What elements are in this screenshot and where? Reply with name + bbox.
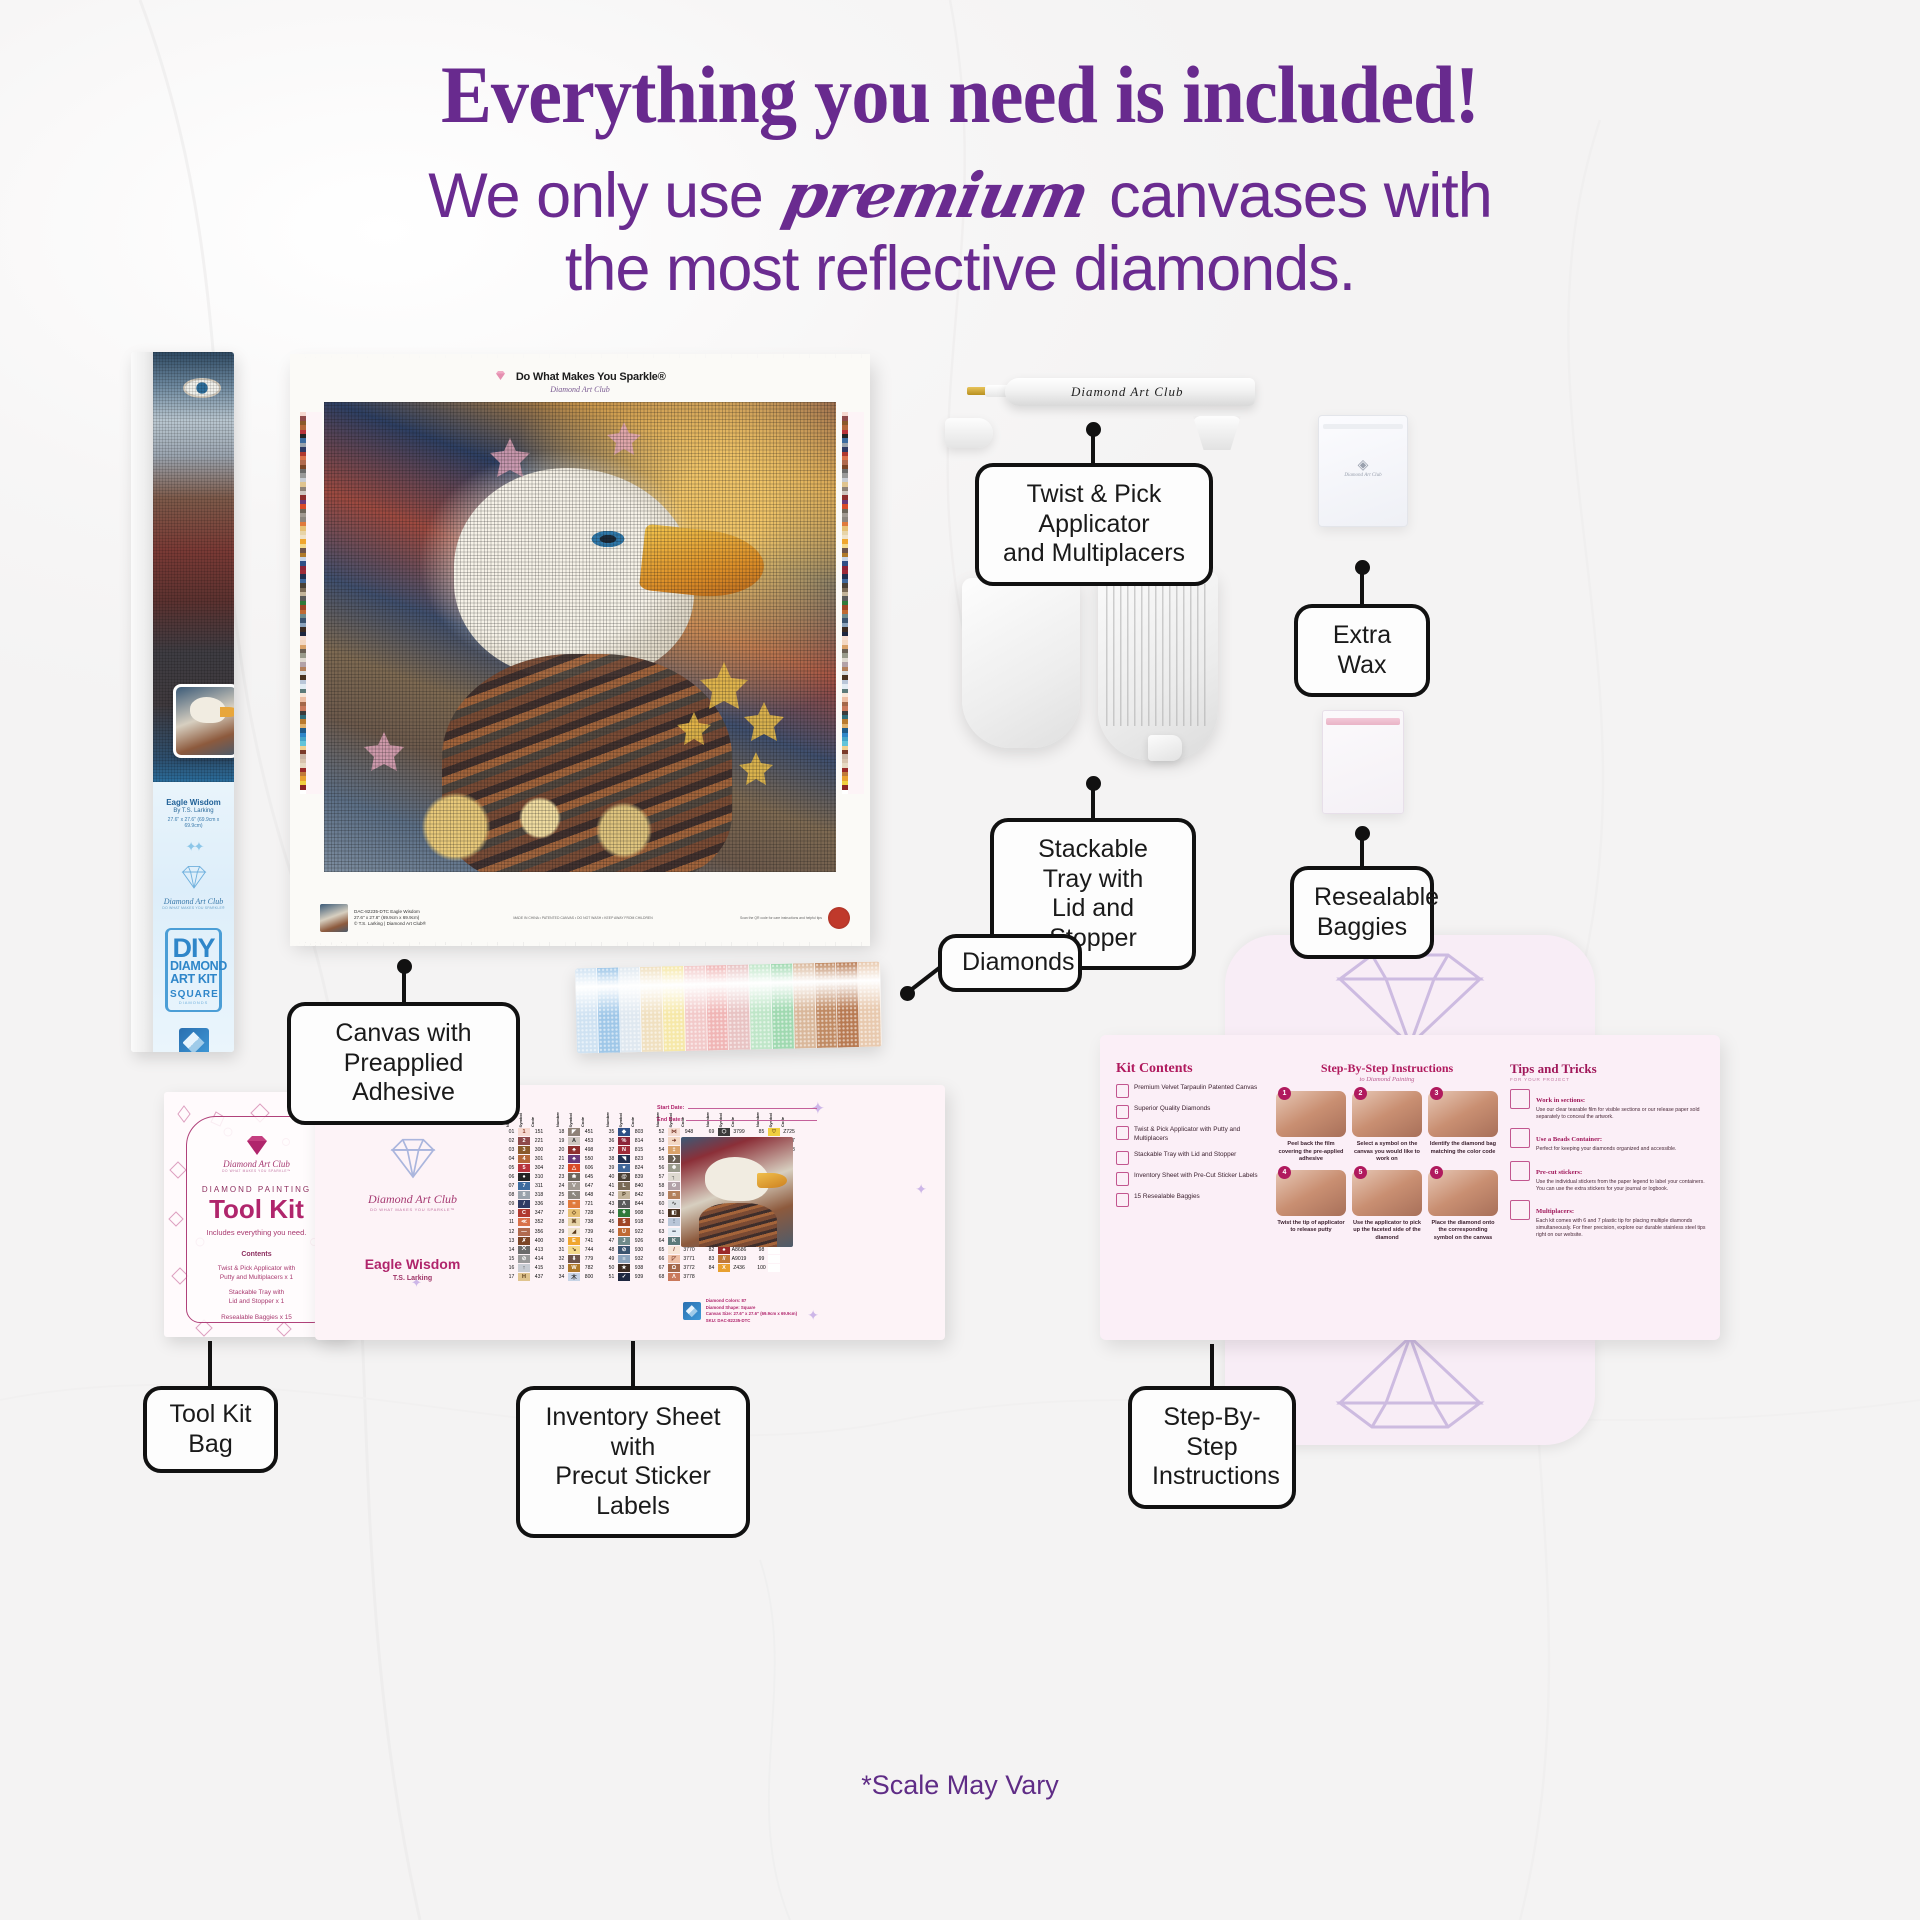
leader-dot-canvas [397,959,412,974]
symbol-row: 34木800 [555,1273,598,1282]
canvas-meta: DAC-82235-DTC Eagle Wisdom 27.6" x 27.6"… [354,909,426,928]
symbol-row: 99 [755,1254,798,1263]
steps-grid: 1Peel back the film covering the pre-app… [1276,1091,1498,1242]
symbol-row: 25↖648 [555,1191,598,1200]
callout-extra-wax[interactable]: Extra Wax [1294,604,1430,697]
tip-2-heading: Use a Beads Container: [1536,1136,1602,1143]
symbol-row: 46U922 [605,1227,648,1236]
steps-title: Step-By-Step Instructions [1276,1061,1498,1076]
canvas-thumbnail [320,904,348,932]
symbol-row: 84XZ436 [705,1263,748,1272]
inventory-brand-sub: DO WHAT MAKES YOU SPARKLE™ [335,1207,490,1212]
tips-panel: Tips and Tricks FOR YOUR PROJECT Work in… [1510,1061,1708,1330]
symbol-row: 18◤451 [555,1127,598,1136]
baggie-zip [1326,718,1400,725]
symbol-row: 09/336 [505,1200,548,1209]
toolkit-contents-4: Lid and Stopper x 1 [187,1298,326,1307]
step-number: 5 [1354,1166,1367,1179]
callout-twist-pick-applicator[interactable]: Twist & Pick Applicator and Multiplacers [975,463,1213,586]
kit-contents-panel: Kit Contents Premium Velvet Tarpaulin Pa… [1116,1061,1266,1330]
toolkit-subtitle: Includes everything you need. [187,1228,326,1237]
step-caption: Place the diamond onto the corresponding… [1428,1220,1498,1243]
symbol-column-header: NumberSymbolCode [605,1103,648,1127]
symbol-row: 044301 [505,1154,548,1163]
toolkit-brand-sub: DO WHAT MAKES YOU SPARKLE™ [187,1169,326,1173]
symbol-row: 19A453 [555,1136,598,1145]
canvas-center-note: MADE IN CHINA • PATENTED CANVAS • DO NOT… [426,916,740,920]
symbol-row: 12—356 [505,1227,548,1236]
pen-cap [945,418,993,448]
inventory-artwork-preview [681,1137,793,1247]
diamond-baggie [662,966,686,1051]
diamond-baggie [728,965,752,1050]
box-title: Eagle Wisdom [159,798,228,808]
pen-brand: Diamond Art Club [1071,384,1184,400]
leader-dot-baggies [1355,826,1370,841]
step-number: 1 [1278,1087,1291,1100]
diamond-outline-icon-bottom [1300,1335,1520,1433]
page-subtitle: We only use premium canvases with the mo… [0,160,1920,305]
extra-wax-bag: ◈ Diamond Art Club [1318,415,1408,527]
stickers-icon [1510,1161,1530,1181]
toolkit-contents-label: Contents [187,1251,326,1258]
pen-gold-tip [967,387,987,395]
leader-dot-diamonds [900,986,915,1001]
diamond-icon [177,863,211,890]
symbol-row: 50★938 [605,1263,648,1272]
canvas-right-note: Scan the QR code for care instructions a… [740,916,822,920]
diamond-baggie [706,965,730,1050]
baggies-icon [1116,1193,1129,1207]
symbol-row: 10C347 [505,1209,548,1218]
diamond-baggie [597,967,621,1052]
diamond-baggie [749,964,773,1049]
leader-dot-wax [1355,560,1370,575]
callout-inventory-sheet[interactable]: Inventory Sheet with Precut Sticker Labe… [516,1386,750,1538]
symbol-row: 49≡932 [605,1254,648,1263]
symbol-row: 51✓939 [605,1273,648,1282]
kit-content-3: Twist & Pick Applicator with Putty and M… [1134,1126,1266,1144]
inventory-sku-block: Diamond Colors: 87 Diamond Shape: Square… [683,1298,797,1324]
diamond-icon-inventory [385,1135,441,1180]
kit-content-6: 15 Resealable Baggies [1134,1193,1200,1207]
symbol-row: 35◆803 [605,1127,648,1136]
toolkit-contents-1: Twist & Pick Applicator with [187,1265,326,1274]
callout-tool-kit-bag[interactable]: Tool Kit Bag [143,1386,278,1473]
diamond-baggie [815,963,839,1048]
resealable-baggie [1322,710,1404,814]
symbol-row: 17H437 [505,1273,548,1282]
step-caption: Select a symbol on the canvas you would … [1352,1141,1422,1164]
box-inset-preview [173,684,234,758]
subtitle-post: canvases with [1109,161,1492,231]
diamond-icon-toolkit [242,1133,272,1157]
header-block: Everything you need is included! We only… [0,52,1920,305]
leader-line-instructions [1210,1344,1214,1386]
toolkit-brand: Diamond Art Club [187,1159,326,1169]
symbol-row: 14⨉413 [505,1245,548,1254]
symbol-row: 68Λ3778 [655,1273,698,1282]
symbol-row: 37N815 [605,1145,648,1154]
instruction-step: 5Use the applicator to pick up the facet… [1352,1170,1422,1243]
diamond-baggie [575,968,599,1053]
symbol-row: 48⊘930 [605,1245,648,1254]
box-eagle-eye [185,380,219,396]
sparkle-icon-inv-5: ✦ [807,1307,819,1324]
symbol-row: 100 [755,1263,798,1272]
canvas-tagline: Do What Makes You Sparkle® [516,371,666,383]
diamond-baggie [619,967,643,1052]
symbol-column: NumberSymbolCode011151022221033300044301… [505,1103,548,1282]
canvas-footer: DAC-82235-DTC Eagle Wisdom 27.6" x 27.6"… [320,904,850,932]
box-drill-sub: DIAMONDS [170,1000,217,1005]
step-number: 4 [1278,1166,1291,1179]
subtitle-script-premium: premium [772,160,1100,231]
star-decoration [324,402,836,872]
symbol-row: 23❀645 [555,1172,598,1181]
canvas-legend-left [300,412,322,794]
step-caption: Identify the diamond bag matching the co… [1428,1141,1498,1156]
symbol-column: NumberSymbolCode18◤45119A45320♣49821♣550… [555,1103,598,1282]
tool-kit-inner-frame: Diamond Art Club DO WHAT MAKES YOU SPARK… [186,1116,327,1323]
tip-4-heading: Multiplacers: [1536,1208,1574,1215]
instruction-step: 2Select a symbol on the canvas you would… [1352,1091,1422,1164]
callout-resealable-baggies[interactable]: Resealable Baggies [1290,866,1434,959]
symbol-row: 45$918 [605,1218,648,1227]
diamond-baggie [793,963,817,1048]
inventory-brand-block: Diamond Art Club DO WHAT MAKES YOU SPARK… [335,1135,490,1282]
symbol-row: 033300 [505,1145,548,1154]
step-caption: Twist the tip of applicator to release p… [1276,1220,1346,1235]
tip-3-body: Use the individual stickers from the pap… [1536,1179,1708,1193]
toolkit-contents-5: Resealable Baggies x 15 [187,1314,326,1323]
symbol-row: 31↘744 [555,1245,598,1254]
box-kit-line2: ART KIT [170,973,217,986]
symbol-row: 022221 [505,1136,548,1145]
instruction-step: 4Twist the tip of applicator to release … [1276,1170,1346,1243]
canvas-printed-artwork [324,402,836,872]
inventory-title: Eagle Wisdom [335,1256,490,1272]
canvas-credit-line: © T.S. Larking | Diamond Art Club® [354,921,426,927]
toolkit-title: Tool Kit [187,1196,326,1222]
symbol-row: 27◇728 [555,1209,598,1218]
leader-line-toolkit [208,1341,212,1386]
tip-1-body: Use our clear tearable film for visible … [1536,1107,1708,1121]
wax-bag-zip [1323,424,1403,429]
symbol-row: 83//A9019 [705,1254,748,1263]
subtitle-pre: We only use [428,161,763,231]
tray-icon [1116,1151,1129,1165]
wax-brand: Diamond Art Club [1344,473,1381,478]
symbol-row: 47J926 [605,1236,648,1245]
callout-diamonds[interactable]: Diamonds [938,934,1082,992]
canvas-icon [1116,1084,1129,1098]
stackable-tray-lid [962,578,1080,748]
box-drill-type: SQUARE [170,989,217,1000]
symbol-row: 41L840 [605,1182,648,1191]
sparkle-icon: ✦✦ [159,839,228,855]
symbol-row: 38◥823 [605,1154,648,1163]
box-brand: Diamond Art Club [159,897,228,906]
symbol-row: 39♥824 [605,1163,648,1172]
inventory-sheet-icon [1116,1172,1129,1186]
callout-canvas-adhesive[interactable]: Canvas with Preapplied Adhesive [287,1002,520,1125]
project-dates: Start Date: End Date: [657,1105,817,1129]
symbol-row: 16↑415 [505,1263,548,1272]
twist-pick-applicator-pen: Diamond Art Club [945,370,1275,440]
diamond-painting-canvas: Do What Makes You Sparkle® Diamond Art C… [290,358,870,942]
tray-stopper [1148,735,1182,761]
inventory-sku-4: SKU: DAC-82235-DTC [706,1318,797,1324]
symbol-row: 32⬇779 [555,1254,598,1263]
page-title: Everything you need is included! [67,52,1853,138]
symbol-row: 22△606 [555,1163,598,1172]
symbol-row: 20♣498 [555,1145,598,1154]
kit-content-4: Stackable Tray with Lid and Stopper [1134,1151,1236,1165]
symbol-row: 088318 [505,1191,548,1200]
symbol-row: 11≪352 [505,1218,548,1227]
symbol-row: 15⊘414 [505,1254,548,1263]
symbol-row: 21♣550 [555,1154,598,1163]
kit-content-5: Inventory Sheet with Pre-Cut Sticker Lab… [1134,1172,1258,1186]
tip-1-heading: Work in sections: [1536,1097,1585,1104]
symbol-row: 055304 [505,1163,548,1172]
tips-subtitle: FOR YOUR PROJECT [1510,1077,1708,1082]
square-drill-icon [179,1028,209,1052]
square-drill-icon-inventory [683,1302,701,1320]
inventory-brand: Diamond Art Club [335,1192,490,1207]
canvas-brand: Diamond Art Club [290,385,870,394]
end-date-label: End Date: [657,1117,682,1123]
kit-contents-title: Kit Contents [1116,1061,1266,1077]
diamond-baggie [684,966,708,1051]
sparkle-icon-inv-4: ✦ [915,1181,927,1198]
symbol-row: 30E741 [555,1236,598,1245]
kit-content-1: Premium Velvet Tarpaulin Patented Canvas [1134,1084,1257,1098]
symbol-row: 44⚘908 [605,1209,648,1218]
footnote-scale: *Scale May Vary [0,1770,1920,1801]
wax-diamond-icon: ◈ [1344,456,1381,473]
tip-4-body: Each kit comes with 6 and 7 plastic tip … [1536,1218,1708,1240]
symbol-row: 36%814 [605,1136,648,1145]
kit-content-2: Superior Quality Diamonds [1134,1105,1210,1119]
box-dimensions: 27.6" x 27.6" (69.9cm x 69.9cm) [159,817,228,829]
symbol-row: 24V647 [555,1182,598,1191]
symbol-row: 077311 [505,1182,548,1191]
sections-icon [1510,1089,1530,1109]
diamond-baggie [836,962,860,1047]
product-box-package: Eagle Wisdom By T.S. Larking 27.6" x 27.… [131,352,234,1052]
gem-icon [494,370,507,381]
toolkit-contents-2: Putty and Multiplacers x 1 [187,1274,326,1283]
inventory-sku-3: Canvas Size: 27.6" x 27.6" (69.9cm x 69.… [706,1311,797,1317]
tip-3-heading: Pre-cut stickers: [1536,1169,1582,1176]
diamond-baggie [858,962,882,1047]
canvas-legend-right [842,412,864,794]
canvas-seal-icon [828,907,850,929]
leader-line-inventory [631,1341,635,1386]
diamond-baggie [771,964,795,1049]
box-info-panel: Eagle Wisdom By T.S. Larking 27.6" x 27.… [153,782,234,1052]
symbol-row: 67Ω3772 [655,1263,698,1272]
diamonds-icon [1116,1105,1129,1119]
toolkit-contents-3: Stackable Tray with [187,1289,326,1298]
toolkit-eyebrow: DIAMOND PAINTING [187,1185,326,1194]
steps-subtitle: to Diamond Painting [1276,1076,1498,1083]
tip-2-body: Perfect for keeping your diamonds organi… [1536,1146,1676,1153]
instruction-step: 6Place the diamond onto the correspondin… [1428,1170,1498,1243]
step-number: 2 [1354,1087,1367,1100]
step-caption: Peel back the film covering the pre-appl… [1276,1141,1346,1164]
symbol-row: 26=721 [555,1200,598,1209]
canvas-sku-line: DAC-82235-DTC Eagle Wisdom [354,909,426,915]
steps-panel: Step-By-Step Instructions to Diamond Pai… [1276,1061,1498,1330]
start-date-label: Start Date: [657,1105,684,1111]
leader-dot-applicator [1086,422,1101,437]
symbol-row: 28⌘738 [555,1218,598,1227]
symbol-row: 33W782 [555,1263,598,1272]
step-caption: Use the applicator to pick up the facete… [1352,1220,1422,1243]
symbol-row: 011151 [505,1127,548,1136]
diamond-baggie [640,966,664,1051]
step-number: 6 [1430,1166,1443,1179]
inventory-artist: T.S. Larking [335,1275,490,1282]
box-spine [131,352,153,1052]
box-diy-badge: DIY DIAMOND ART KIT SQUARE DIAMONDS [165,928,222,1012]
box-diy-text: DIY [170,936,217,960]
leader-dot-tray [1086,776,1101,791]
symbol-row: 29◢739 [555,1227,598,1236]
symbol-column: NumberSymbolCode35◆80336%81437N81538◥823… [605,1103,648,1282]
multiplacer-icon [1510,1200,1530,1220]
symbol-row: 13✗400 [505,1236,548,1245]
subtitle-line2: the most reflective diamonds. [0,233,1920,305]
symbol-row: 43Λ844 [605,1200,648,1209]
callout-step-by-step[interactable]: Step-By-Step Instructions [1128,1386,1296,1509]
symbol-row: 40@839 [605,1172,648,1181]
diamond-outline-icon-top [1300,949,1520,1045]
step-number: 3 [1430,1087,1443,1100]
diamond-baggies-strip [575,962,882,1054]
stackable-tray-base [1098,572,1218,760]
symbol-row: 42P842 [605,1191,648,1200]
instruction-step: 3Identify the diamond bag matching the c… [1428,1091,1498,1164]
symbol-row: 06●310 [505,1172,548,1181]
beads-container-icon [1510,1128,1530,1148]
instruction-step: 1Peel back the film covering the pre-app… [1276,1091,1346,1164]
applicator-icon [1116,1126,1129,1140]
canvas-header: Do What Makes You Sparkle® Diamond Art C… [290,367,870,394]
symbol-column-header: NumberSymbolCode [555,1103,598,1127]
symbol-row: 66◸3771 [655,1254,698,1263]
box-artist: By T.S. Larking [159,808,228,816]
box-brand-tagline: DO WHAT MAKES YOU SPARKLE® [159,906,228,910]
tips-title: Tips and Tricks [1510,1061,1708,1077]
step-by-step-instruction-sheet: Kit Contents Premium Velvet Tarpaulin Pa… [1100,1035,1720,1340]
pen-body: Diamond Art Club [1005,378,1255,406]
